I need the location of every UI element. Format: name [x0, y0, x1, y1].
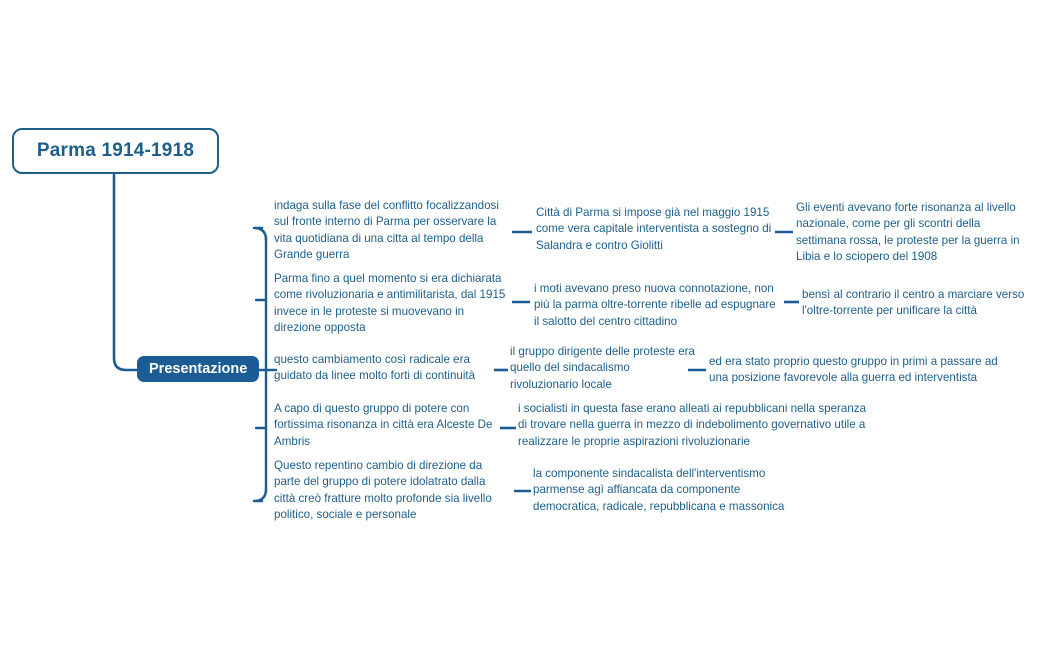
- connector-spine-bottom-cap: [254, 489, 266, 501]
- branch-1-level4-text[interactable]: Gli eventi avevano forte risonanza al li…: [796, 200, 1020, 266]
- branch-4-level2-text[interactable]: A capo di questo gruppo di potere con fo…: [274, 401, 506, 450]
- branch-2-level4-text[interactable]: bensì al contrario il centro a marciare …: [802, 287, 1030, 320]
- branch-4-level3-text[interactable]: i socialisti in questa fase erano alleat…: [518, 401, 878, 450]
- branch-3-level4-text[interactable]: ed era stato proprio questo gruppo in pr…: [709, 354, 1019, 387]
- branch-1-level2-text[interactable]: indaga sulla fase del conflitto focalizz…: [274, 198, 506, 264]
- mindmap-canvas: Parma 1914-1918 Presentazione indaga sul…: [0, 0, 1049, 650]
- root-node-label: Parma 1914-1918: [37, 140, 194, 162]
- connector-lines: [0, 0, 1049, 650]
- node-presentazione-label: Presentazione: [149, 361, 247, 377]
- branch-3-level3-text[interactable]: il gruppo dirigente delle proteste era q…: [510, 344, 695, 393]
- branch-5-level3-text[interactable]: la componente sindacalista dell'interven…: [533, 466, 785, 515]
- branch-3-level2-text[interactable]: questo cambiamento così radicale era gui…: [274, 352, 506, 385]
- branch-1-level3-text[interactable]: Città di Parma si impose già nel maggio …: [536, 205, 784, 254]
- branch-2-level2-text[interactable]: Parma fino a quel momento si era dichiar…: [274, 271, 506, 337]
- root-node[interactable]: Parma 1914-1918: [12, 128, 219, 174]
- connector-spine-top-cap: [254, 228, 266, 240]
- branch-5-level2-text[interactable]: Questo repentino cambio di direzione da …: [274, 458, 506, 524]
- branch-2-level3-text[interactable]: i moti avevano preso nuova connotazione,…: [534, 281, 782, 330]
- connector-root-to-presentazione: [114, 175, 137, 370]
- node-presentazione[interactable]: Presentazione: [137, 356, 259, 382]
